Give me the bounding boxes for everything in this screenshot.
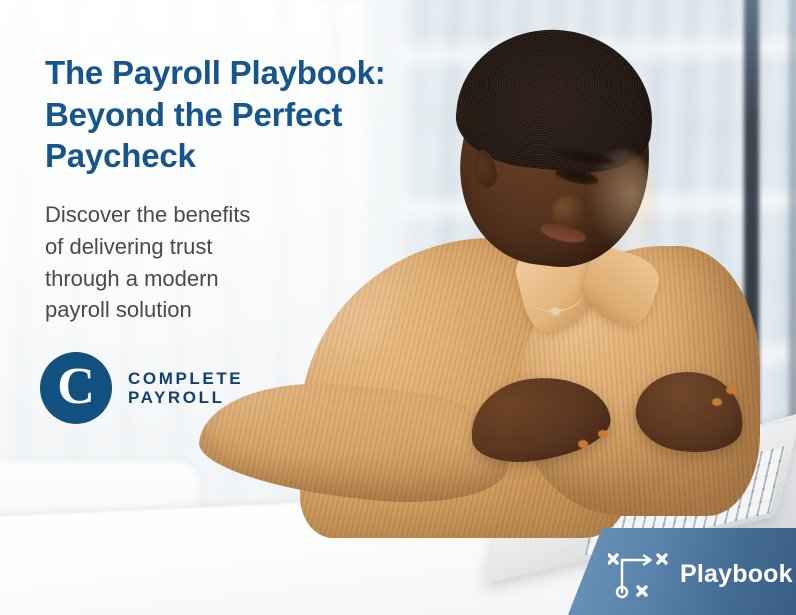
cover-copy: The Payroll Playbook: Beyond the Perfect… bbox=[45, 52, 435, 326]
logo-wordmark-line2: PAYROLL bbox=[128, 388, 243, 407]
logo-circle-icon: C bbox=[40, 352, 112, 424]
logo-wordmark: COMPLETE PAYROLL bbox=[128, 369, 243, 407]
playbook-series-badge: Playbook Series bbox=[566, 528, 796, 615]
fingernail bbox=[726, 386, 736, 394]
page-title: The Payroll Playbook: Beyond the Perfect… bbox=[45, 52, 435, 177]
fingernail bbox=[598, 430, 608, 438]
play-diagram-icon bbox=[608, 546, 670, 602]
fingernail bbox=[712, 398, 722, 406]
ebook-cover: The Payroll Playbook: Beyond the Perfect… bbox=[0, 0, 796, 615]
logo-wordmark-line1: COMPLETE bbox=[128, 369, 243, 388]
necklace-pendant bbox=[552, 308, 559, 315]
badge-label: Playbook Series bbox=[680, 560, 796, 589]
logo-monogram: C bbox=[57, 361, 95, 413]
badge-label-strong: Playbook bbox=[680, 560, 793, 588]
brand-logo: C COMPLETE PAYROLL bbox=[40, 352, 243, 424]
face-highlight bbox=[586, 150, 656, 260]
page-subtitle: Discover the benefits of delivering trus… bbox=[45, 199, 435, 327]
fingernail bbox=[578, 440, 588, 448]
